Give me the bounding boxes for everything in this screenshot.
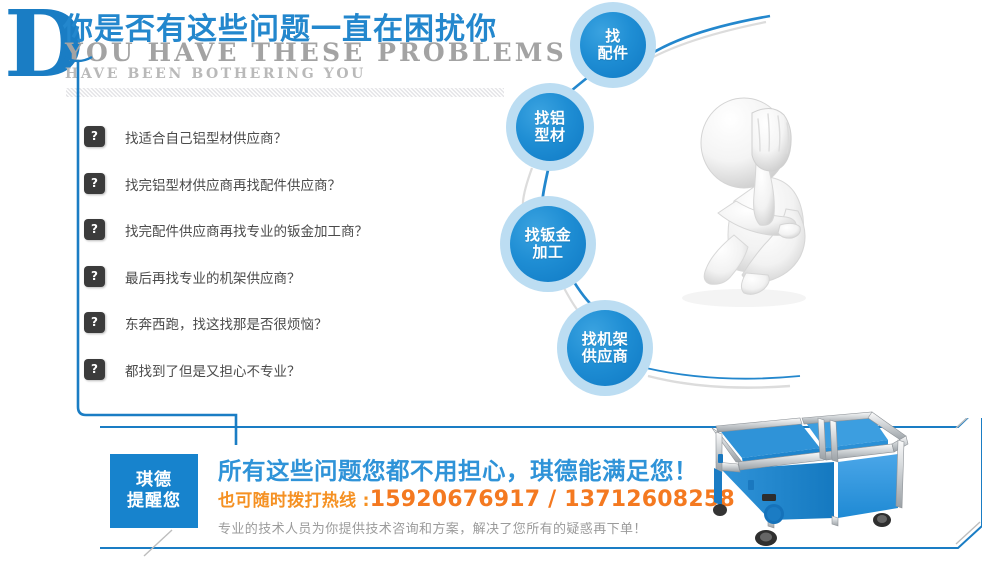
flow-node-label-line: 加工 <box>525 244 572 261</box>
question-mark-icon: ? <box>84 312 105 333</box>
list-item-label: 都找到了但是又担心不专业？ <box>125 360 301 380</box>
list-item-label: 找适合自己铝型材供应商？ <box>125 127 287 147</box>
brand-badge: 琪德 提醒您 <box>110 454 198 528</box>
list-item: ? 找完铝型材供应商再找配件供应商？ <box>84 173 484 220</box>
question-mark-icon: ? <box>84 126 105 147</box>
list-item: ? 最后再找专业的机架供应商？ <box>84 266 484 313</box>
list-item: ? 找适合自己铝型材供应商？ <box>84 126 484 173</box>
cta-banner: 琪德 提醒您 所有这些问题您都不用担心，琪德能满足您！ 也可随时拨打热线 :15… <box>100 418 982 558</box>
flow-node-find-sheet-metal[interactable]: 找钣金 加工 <box>500 196 596 292</box>
problem-list: ? 找适合自己铝型材供应商？ ? 找完铝型材供应商再找配件供应商？ ? 找完配件… <box>84 126 484 405</box>
brand-badge-line2: 提醒您 <box>127 491 181 512</box>
flow-node-label-line: 供应商 <box>582 348 629 365</box>
question-mark-icon: ? <box>84 359 105 380</box>
promo-banner-page: D 你是否有这些问题一直在困扰你 YOU HAVE THESE PROBLEMS… <box>0 0 982 579</box>
flow-node-label-line: 找机架 <box>582 331 629 348</box>
banner-hotline: 也可随时拨打热线 :15920676917 / 13712608258 <box>218 486 735 512</box>
flow-node-find-aluminium-profile[interactable]: 找铝 型材 <box>506 83 594 171</box>
list-item-label: 找完铝型材供应商再找配件供应商？ <box>125 174 341 194</box>
hotline-label: 也可随时拨打热线 : <box>218 491 370 511</box>
flow-node-label-line: 找铝 <box>534 110 565 127</box>
list-item-label: 找完配件供应商再找专业的钣金加工商？ <box>125 220 368 240</box>
hotline-numbers[interactable]: 15920676917 / 13712608258 <box>370 487 735 512</box>
banner-subtext: 专业的技术人员为你提供技术咨询和方案，解决了您所有的疑惑再下单！ <box>218 518 647 537</box>
list-item: ? 都找到了但是又担心不专业？ <box>84 359 484 406</box>
brand-badge-line1: 琪德 <box>136 470 172 491</box>
flow-node-label-line: 配件 <box>597 45 628 62</box>
flow-node-find-parts[interactable]: 找 配件 <box>570 2 656 88</box>
flow-node-find-rack-supplier[interactable]: 找机架 供应商 <box>557 300 653 396</box>
list-item: ? 找完配件供应商再找专业的钣金加工商？ <box>84 219 484 266</box>
question-mark-icon: ? <box>84 266 105 287</box>
list-item: ? 东奔西跑，找这找那是否很烦恼？ <box>84 312 484 359</box>
banner-headline: 所有这些问题您都不用担心，琪德能满足您！ <box>218 452 698 486</box>
product-image-workbench <box>692 410 982 558</box>
list-item-label: 东奔西跑，找这找那是否很烦恼？ <box>125 313 328 333</box>
flow-node-label-line: 型材 <box>534 127 565 144</box>
question-mark-icon: ? <box>84 173 105 194</box>
flow-node-label-line: 找钣金 <box>525 227 572 244</box>
question-mark-icon: ? <box>84 219 105 240</box>
list-item-label: 最后再找专业的机架供应商？ <box>125 267 301 287</box>
flow-node-label-line: 找 <box>597 28 628 45</box>
frustrated-person-illustration <box>648 85 838 315</box>
